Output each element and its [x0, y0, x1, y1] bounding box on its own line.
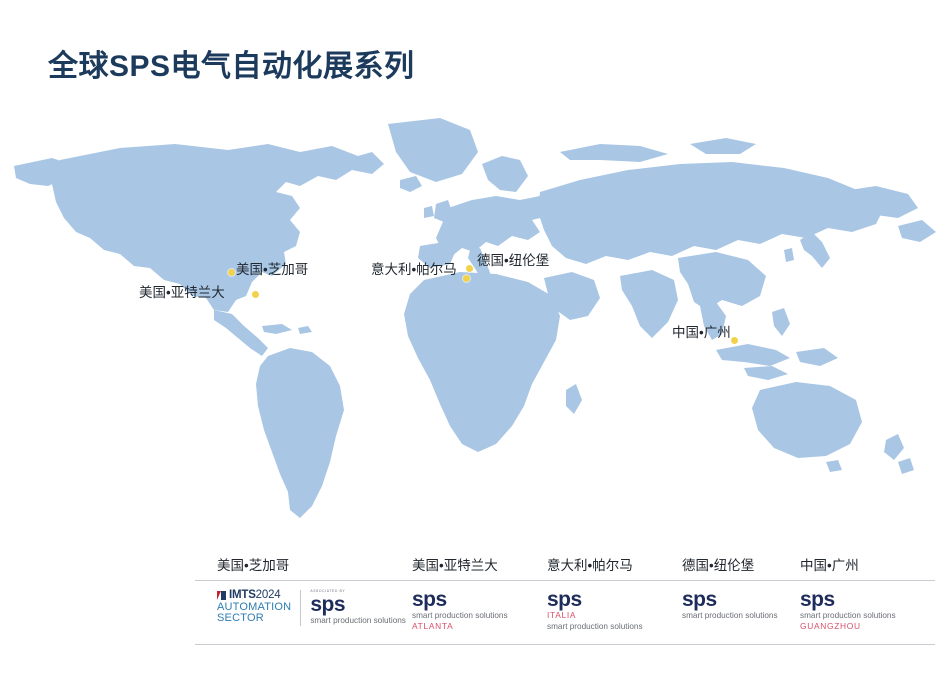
column-header-parma: 意大利•帕尔马 [547, 554, 633, 574]
map-marker-atlanta [252, 291, 259, 298]
map-label-parma: 意大利•帕尔马 [371, 263, 457, 277]
sps-wordmark: sps [547, 590, 643, 610]
sps-city: ITALIA [547, 610, 643, 621]
sps-wordmark: sps [800, 590, 896, 610]
column-header-guangzhou: 中国•广州 [800, 554, 859, 574]
sps-city: GUANGZHOU [800, 621, 896, 632]
imts-year: 2024 [256, 590, 281, 602]
map-marker-guangzhou [731, 337, 738, 344]
logo-imts-sps: IMTS 2024 AUTOMATION SECTOR ASSOCIATED B… [217, 590, 406, 626]
imts-line-3: SECTOR [217, 613, 291, 625]
imts-name: IMTS [229, 590, 256, 602]
table-rule-top [195, 580, 935, 581]
logo-sps-atlanta: sps smart production solutions ATLANTA [412, 590, 508, 632]
world-map-svg [0, 100, 950, 530]
logo-divider [300, 590, 301, 626]
sps-tagline: smart production solutions [682, 610, 778, 621]
map-label-chicago: 美国•芝加哥 [236, 263, 308, 277]
sps-tagline: smart production solutions [547, 621, 643, 632]
map-marker-parma [463, 275, 470, 282]
map-marker-nuremberg [466, 265, 473, 272]
event-series-table: 美国•芝加哥 IMTS 2024 AUTOMATION SECTOR [195, 548, 935, 653]
map-label-nuremberg: 德国•纽伦堡 [477, 254, 549, 268]
table-rule-bottom [195, 644, 935, 645]
logo-sps-nuremberg: sps smart production solutions [682, 590, 778, 621]
sps-logo-chicago: ASSOCIATED BY sps smart production solut… [310, 590, 406, 626]
sps-wordmark: sps [310, 595, 406, 615]
imts-mark-icon [217, 591, 226, 600]
map-marker-chicago [228, 269, 235, 276]
logo-sps-guangzhou: sps smart production solutions GUANGZHOU [800, 590, 896, 632]
sps-city: ATLANTA [412, 621, 508, 632]
column-header-nuremberg: 德国•纽伦堡 [682, 554, 754, 574]
map-label-atlanta: 美国•亚特兰大 [139, 286, 225, 300]
sps-tagline: smart production solutions [412, 610, 508, 621]
sps-tagline: smart production solutions [310, 615, 406, 626]
imts-logo: IMTS 2024 AUTOMATION SECTOR [217, 590, 300, 625]
column-header-chicago: 美国•芝加哥 [217, 554, 289, 574]
logo-sps-italia: sps ITALIA smart production solutions [547, 590, 643, 632]
sps-wordmark: sps [682, 590, 778, 610]
sps-wordmark: sps [412, 590, 508, 610]
map-label-guangzhou: 中国•广州 [672, 326, 731, 340]
column-header-atlanta: 美国•亚特兰大 [412, 554, 498, 574]
page-title: 全球SPS电气自动化展系列 [48, 41, 415, 85]
world-map: 美国•芝加哥 美国•亚特兰大 意大利•帕尔马 德国•纽伦堡 中国•广州 [0, 100, 950, 530]
sps-tagline: smart production solutions [800, 610, 896, 621]
map-landmasses [14, 118, 936, 518]
